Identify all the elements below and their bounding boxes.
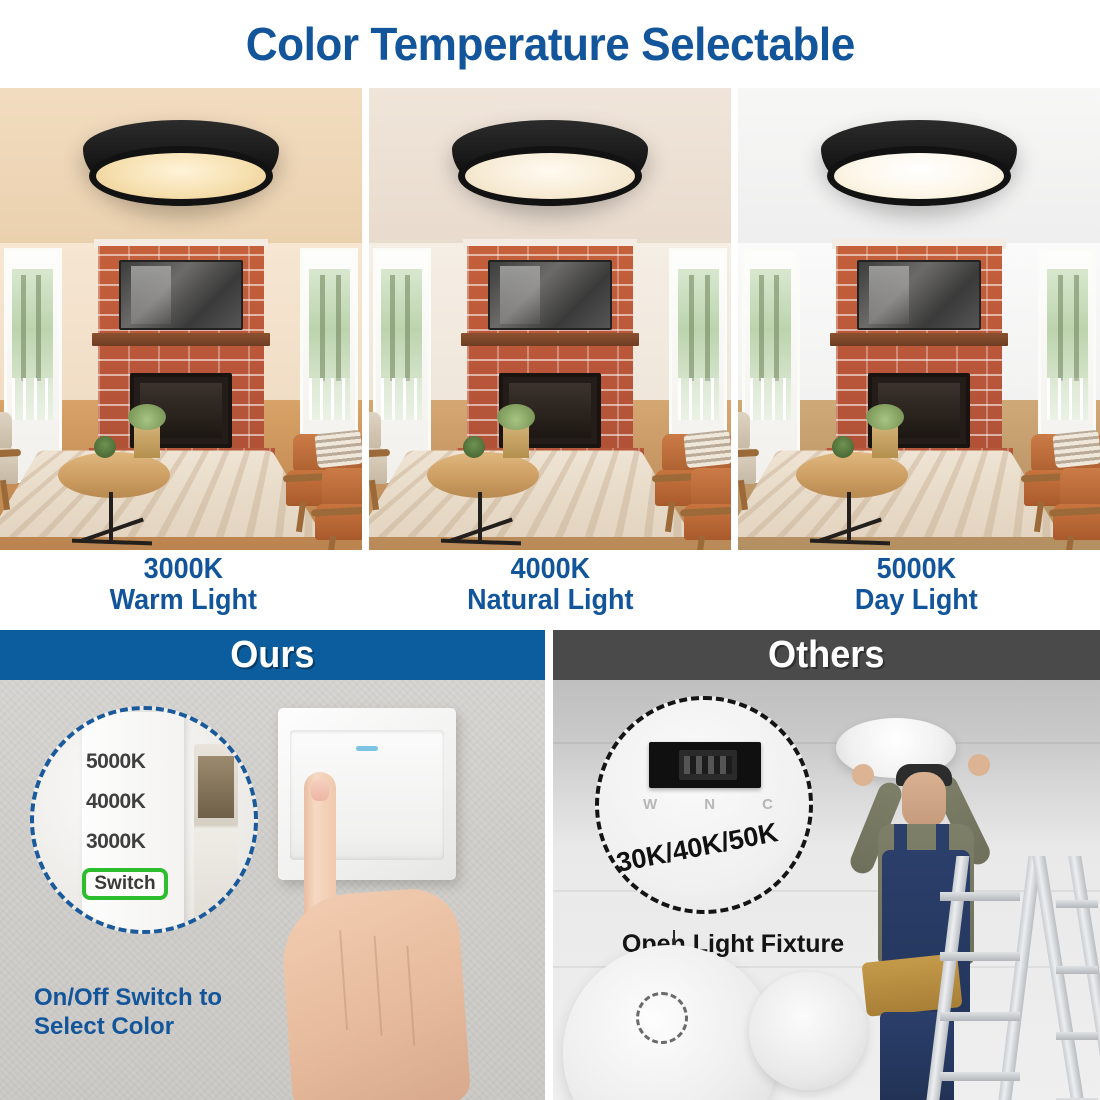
others-photo: W N C 30K/40K/50K Open Light Fixture <box>553 680 1100 1100</box>
mantel <box>461 333 638 346</box>
flower-vase <box>872 424 898 458</box>
door-glass <box>381 269 423 420</box>
tree <box>774 275 779 381</box>
wall-mounted-tv <box>488 260 611 330</box>
others-column: Others W N C 30K/40K/50K Ope <box>553 630 1100 1100</box>
step-ladder <box>932 856 1100 1100</box>
tree <box>21 275 26 381</box>
ladder-rung <box>1056 1032 1098 1040</box>
mantel <box>830 333 1007 346</box>
room-scene <box>738 88 1100 550</box>
ours-photo: 5000K 4000K 3000K Switch <box>0 680 545 1100</box>
leather-chair-b <box>315 461 362 550</box>
lamp-housing <box>452 120 648 206</box>
ours-column: Ours 5000K 4000K 3000K Switch <box>0 630 545 1100</box>
dip-switch-magnifier: W N C 30K/40K/50K <box>595 696 813 914</box>
tree <box>1074 275 1079 381</box>
switch-label: Switch <box>94 873 155 895</box>
tree <box>320 275 325 381</box>
tv-glare <box>131 266 171 324</box>
page-title-bar: Color Temperature Selectable <box>0 0 1100 88</box>
tree <box>1058 275 1063 381</box>
chair-back <box>322 468 362 508</box>
accent-chair-left <box>369 405 387 510</box>
ours-caption: On/Off Switch to Select Color <box>34 983 334 1043</box>
ceiling-lamp-4000k <box>452 120 648 206</box>
others-banner-label: Others <box>768 634 884 677</box>
chair-back <box>738 412 750 452</box>
magnifier-option-3000k: 3000K <box>86 830 145 854</box>
chair-back <box>369 412 381 452</box>
dip-switch-housing <box>649 742 761 788</box>
inner-switch-mechanism <box>194 744 238 920</box>
others-banner: Others <box>553 630 1100 680</box>
chair-back <box>0 412 12 452</box>
lamp-rim <box>827 146 1011 206</box>
door-glass <box>12 269 54 420</box>
ours-banner: Ours <box>0 630 545 680</box>
lamp-housing <box>83 120 279 206</box>
pointing-hand <box>296 772 476 1100</box>
potted-plant <box>94 436 116 458</box>
tree <box>759 275 764 381</box>
chair-leg <box>665 502 675 533</box>
cct-name-label: Warm Light <box>13 585 354 616</box>
ours-banner-label: Ours <box>230 634 314 677</box>
led-indicator-icon <box>356 746 378 751</box>
tree <box>390 275 395 381</box>
coffee-table-top <box>427 452 539 498</box>
cct-kelvin-label: 5000K <box>746 554 1087 585</box>
ladder-rung <box>940 1072 1020 1081</box>
chair-back <box>1060 468 1100 508</box>
chair-leg <box>369 480 379 511</box>
page-title: Color Temperature Selectable <box>245 17 854 71</box>
knuckle-line <box>339 930 348 1030</box>
dip-label-w: W <box>643 796 657 813</box>
installer-hand-right <box>968 754 990 776</box>
installer-head <box>902 772 946 828</box>
tree <box>405 275 410 381</box>
cct-kelvin-label: 3000K <box>13 554 354 585</box>
fingernail <box>311 779 329 801</box>
wall-mounted-tv <box>119 260 242 330</box>
lamp-housing <box>821 120 1017 206</box>
cct-caption-5000k: 5000K Day Light <box>733 552 1100 630</box>
cct-scene-4000k <box>369 88 731 550</box>
switch-highlight-box: Switch <box>82 868 168 900</box>
comparison-section: Ours 5000K 4000K 3000K Switch <box>0 630 1100 1100</box>
tv-glare <box>869 266 909 324</box>
leather-chair-b <box>684 461 731 550</box>
room-scene <box>0 88 362 550</box>
cct-scene-row <box>0 88 1100 550</box>
mantel <box>92 333 269 346</box>
wall-mounted-tv <box>857 260 980 330</box>
potted-plant <box>463 436 485 458</box>
ceiling-lamp-5000k <box>821 120 1017 206</box>
tree <box>689 275 694 381</box>
ours-caption-line2: Select Color <box>34 1012 334 1042</box>
ladder-rung <box>1056 900 1098 908</box>
chair-leg <box>1034 502 1044 533</box>
dip-label-n: N <box>704 796 715 813</box>
cct-name-label: Natural Light <box>380 585 721 616</box>
cct-caption-4000k: 4000K Natural Light <box>367 552 734 630</box>
disassembled-fixture-base <box>563 945 778 1100</box>
ladder-rung <box>940 1012 1020 1021</box>
chair-leg <box>738 480 748 511</box>
coffee-table-top <box>796 452 908 498</box>
dip-label-c: C <box>762 796 773 813</box>
flower-vase <box>503 424 529 458</box>
ceiling-lamp-3000k <box>83 120 279 206</box>
magnifier-option-4000k: 4000K <box>86 790 145 814</box>
ladder-rung <box>1056 966 1098 974</box>
ladder-rung <box>940 952 1020 961</box>
ladder-rung <box>940 892 1020 901</box>
cct-caption-3000k: 3000K Warm Light <box>0 552 367 630</box>
dip-marking-text: 30K/40K/50K <box>614 808 813 879</box>
cct-caption-row: 3000K Warm Light 4000K Natural Light 500… <box>0 552 1100 630</box>
magnifier-option-5000k: 5000K <box>86 750 145 774</box>
product-infographic: Color Temperature Selectable <box>0 0 1100 1100</box>
cct-scene-5000k <box>738 88 1100 550</box>
accent-chair-left <box>738 405 756 510</box>
chair-leg <box>0 480 10 511</box>
installer-hand-left <box>852 764 874 786</box>
cct-scene-3000k <box>0 88 362 550</box>
cct-selector-magnifier: 5000K 4000K 3000K Switch <box>30 706 258 934</box>
tree <box>336 275 341 381</box>
room-scene <box>369 88 731 550</box>
accent-chair-left <box>0 405 18 510</box>
coffee-table-top <box>58 452 170 498</box>
door-glass <box>750 269 792 420</box>
installer-figure <box>850 720 1100 1100</box>
tv-glare <box>500 266 540 324</box>
tree <box>36 275 41 381</box>
chair-back <box>691 468 731 508</box>
lamp-rim <box>89 146 273 206</box>
flower-vase <box>134 424 160 458</box>
door-glass <box>1047 269 1089 420</box>
lamp-rim <box>458 146 642 206</box>
door-glass <box>678 269 720 420</box>
door-glass <box>309 269 351 420</box>
knuckle-line <box>406 946 415 1046</box>
leather-chair-b <box>1053 461 1100 550</box>
dip-switch-body <box>679 750 737 780</box>
cct-kelvin-label: 4000K <box>380 554 721 585</box>
dip-switch-labels: W N C <box>643 796 773 813</box>
tree <box>705 275 710 381</box>
cct-label-strip <box>82 712 184 934</box>
knuckle-line <box>374 936 383 1036</box>
chair-leg <box>296 502 306 533</box>
potted-plant <box>832 436 854 458</box>
ours-caption-line1: On/Off Switch to <box>34 983 334 1013</box>
cct-name-label: Day Light <box>746 585 1087 616</box>
